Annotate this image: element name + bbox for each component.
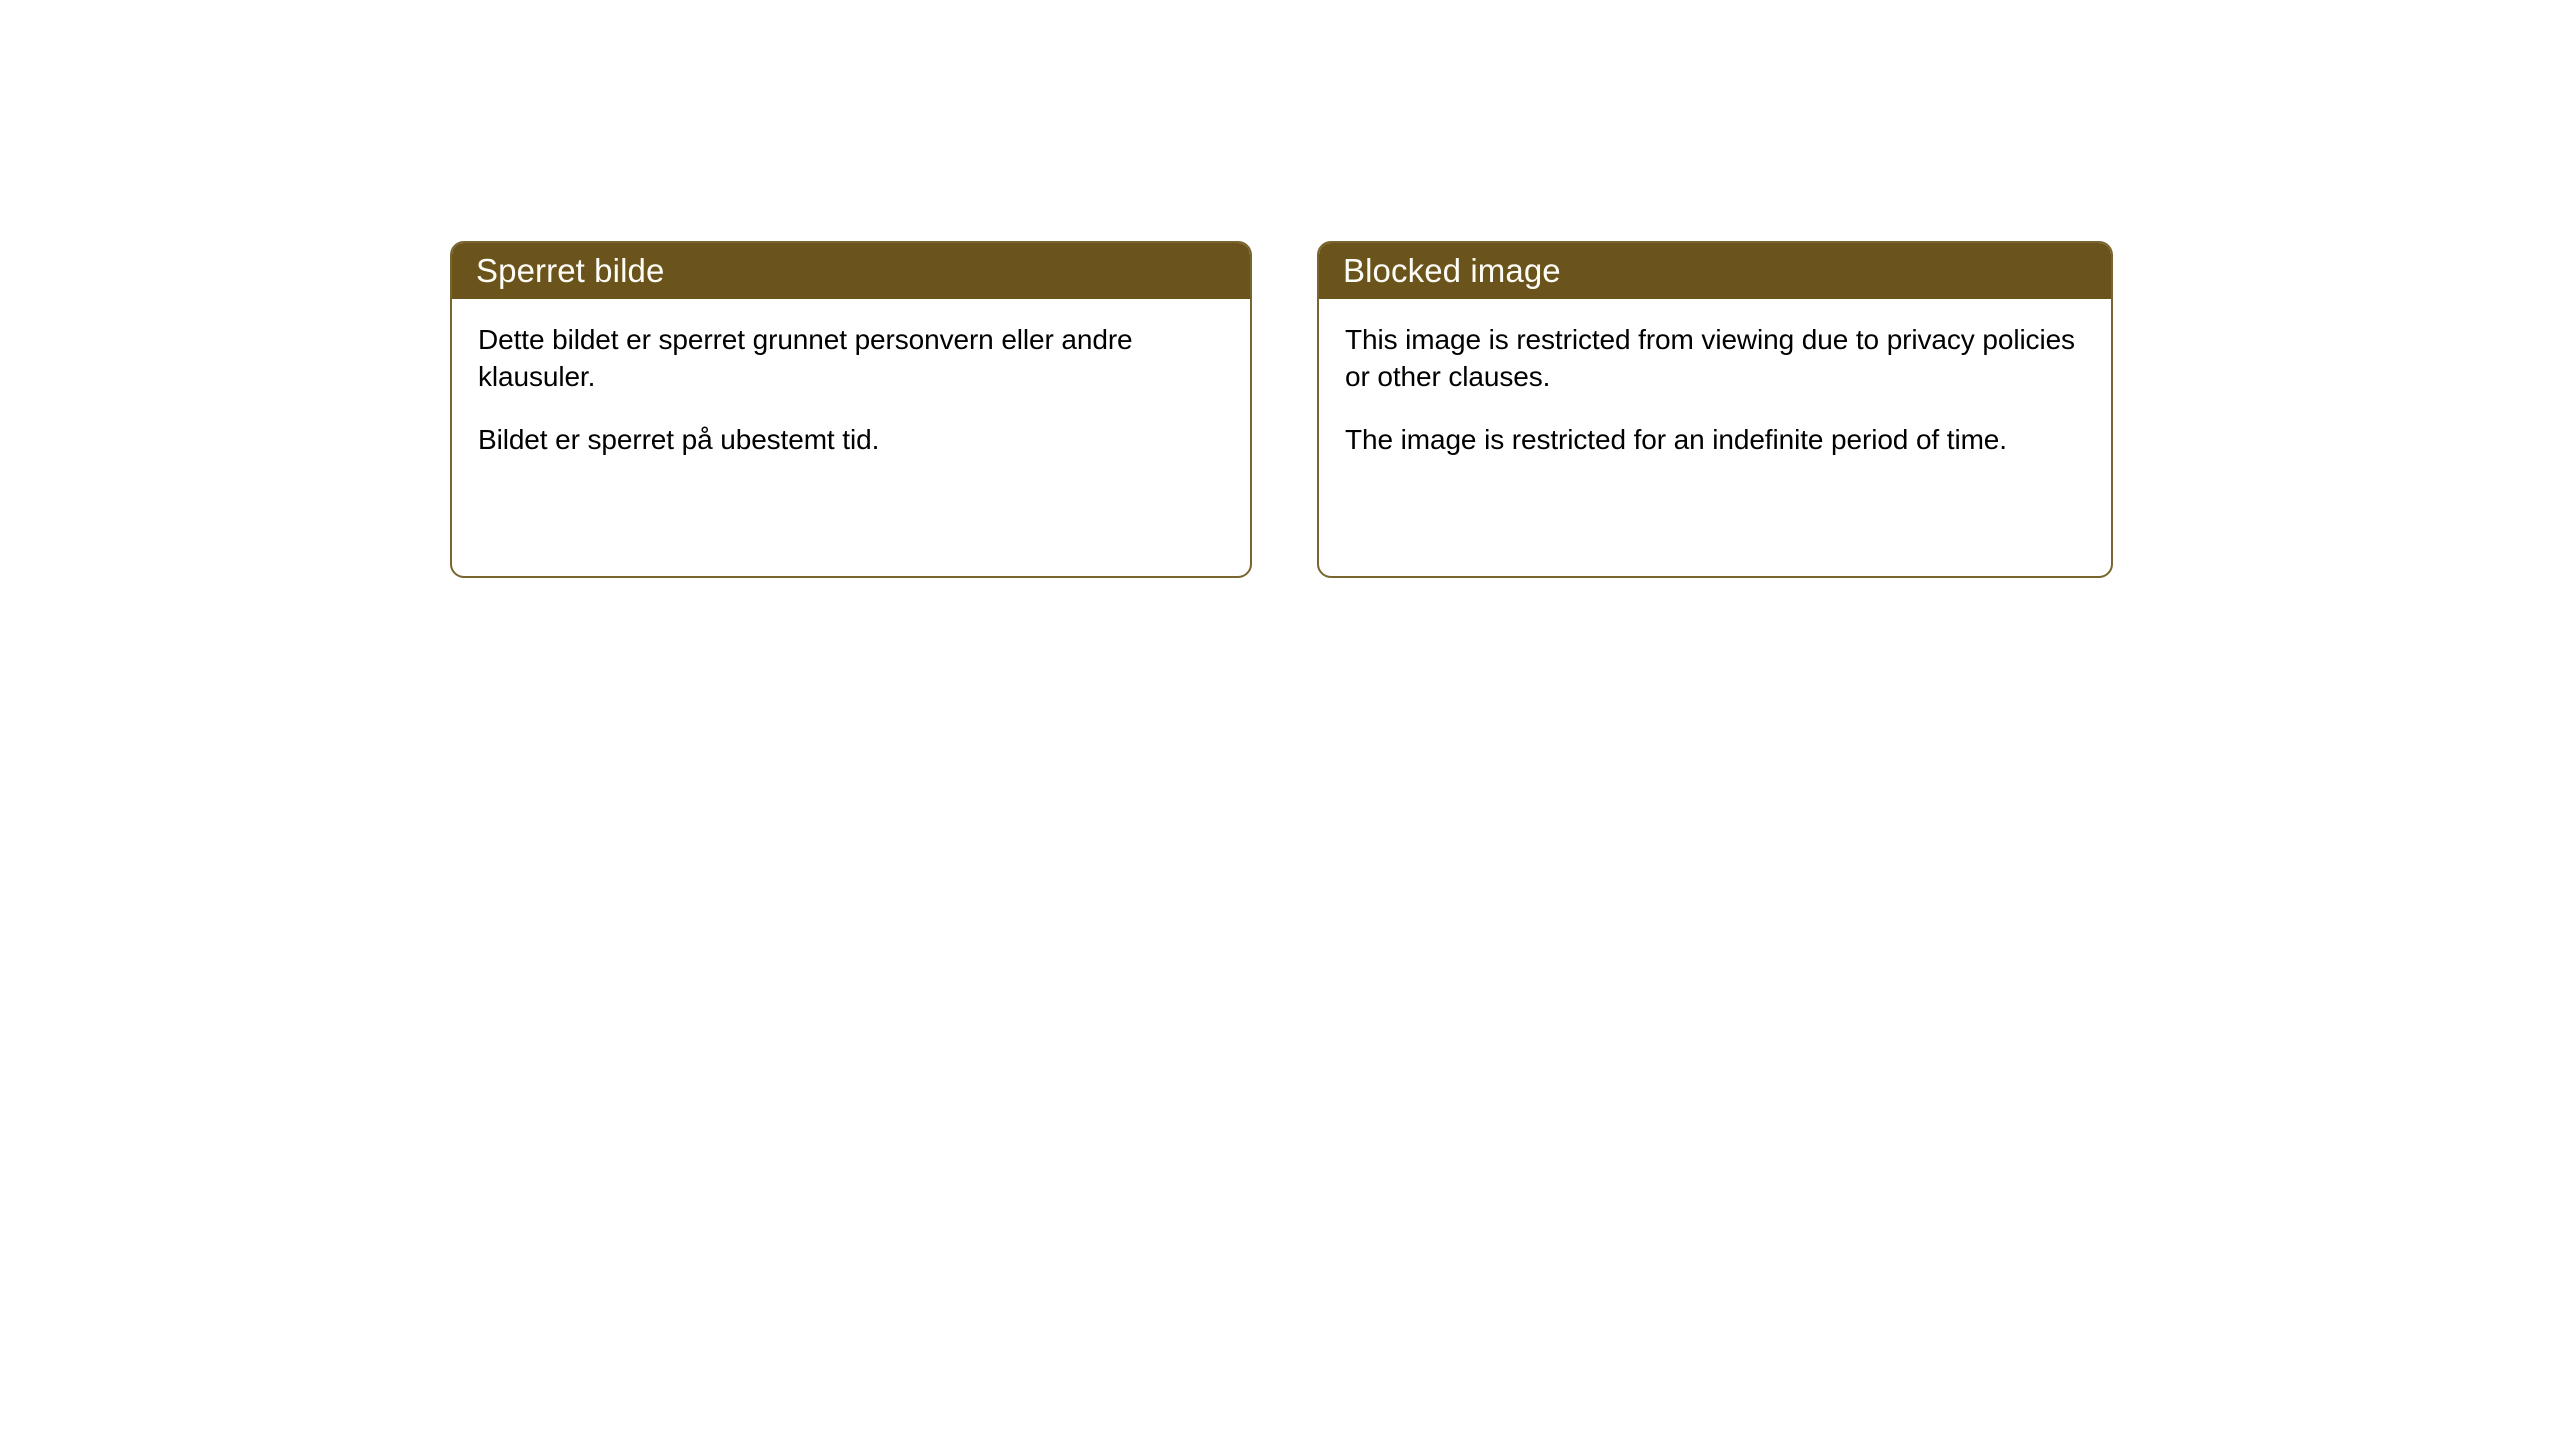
card-paragraph-duration-english: The image is restricted for an indefinit… — [1345, 421, 2085, 458]
card-body-norwegian: Dette bildet er sperret grunnet personve… — [452, 299, 1250, 576]
card-paragraph-duration-norwegian: Bildet er sperret på ubestemt tid. — [478, 421, 1224, 458]
card-body-english: This image is restricted from viewing du… — [1319, 299, 2111, 576]
card-title-norwegian: Sperret bilde — [476, 254, 664, 287]
blocked-image-notice-card-norwegian: Sperret bilde Dette bildet er sperret gr… — [450, 241, 1252, 578]
card-title-english: Blocked image — [1343, 254, 1561, 287]
card-paragraph-privacy-norwegian: Dette bildet er sperret grunnet personve… — [478, 321, 1224, 395]
card-paragraph-privacy-english: This image is restricted from viewing du… — [1345, 321, 2085, 395]
card-header-english: Blocked image — [1317, 241, 2113, 299]
blocked-image-notice-card-english: Blocked image This image is restricted f… — [1317, 241, 2113, 578]
card-header-norwegian: Sperret bilde — [450, 241, 1252, 299]
page-canvas: Sperret bilde Dette bildet er sperret gr… — [0, 0, 2560, 1440]
